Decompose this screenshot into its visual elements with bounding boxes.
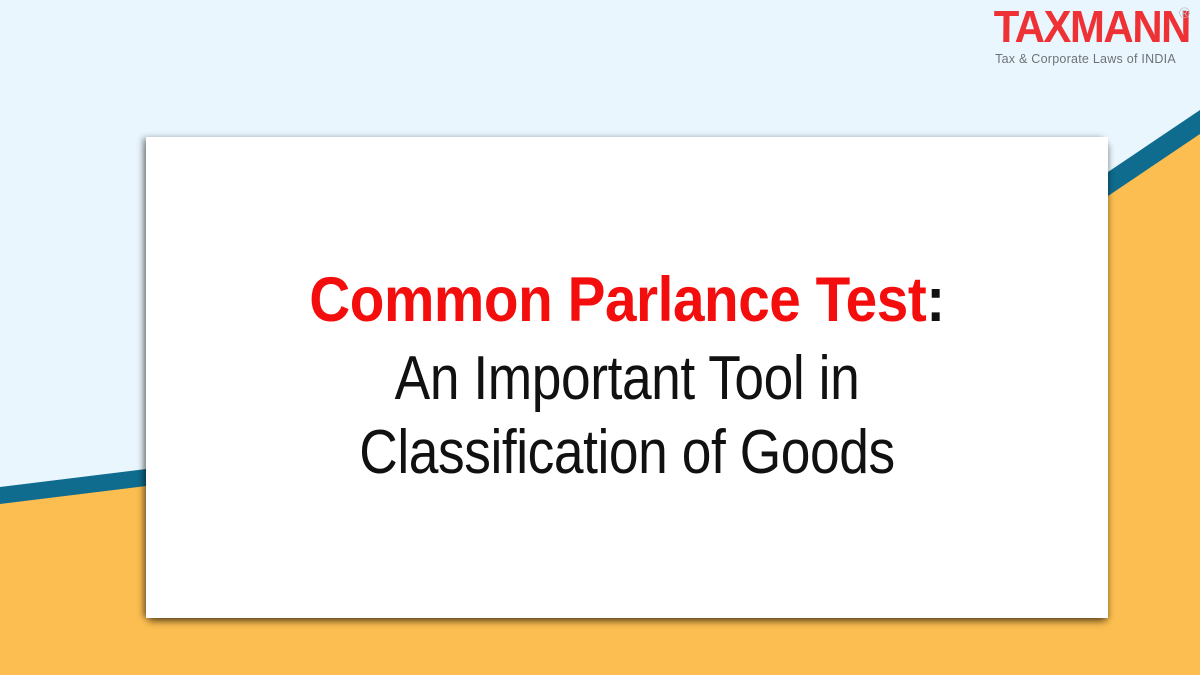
orange-panel-right bbox=[1108, 134, 1200, 675]
slide-title: Common Parlance Test: An Important Tool … bbox=[146, 264, 1108, 491]
registered-trademark-icon: ® bbox=[1179, 6, 1190, 21]
title-line-tertiary: Classification of Goods bbox=[234, 417, 1020, 489]
taxmann-wordmark: TAXMANN bbox=[957, 4, 1190, 49]
content-card: Common Parlance Test: An Important Tool … bbox=[146, 137, 1108, 618]
orange-band-bottom bbox=[0, 617, 1200, 675]
title-line-secondary: An Important Tool in bbox=[234, 343, 1020, 415]
taxmann-logo: TAXMANN ® Tax & Corporate Laws of INDIA bbox=[940, 4, 1190, 76]
title-colon: : bbox=[926, 265, 944, 335]
slide-canvas: TAXMANN ® Tax & Corporate Laws of INDIA … bbox=[0, 0, 1200, 675]
title-highlight-text: Common Parlance Test bbox=[309, 265, 926, 335]
teal-stripe-right bbox=[1108, 110, 1200, 202]
taxmann-tagline: Tax & Corporate Laws of INDIA bbox=[940, 53, 1176, 66]
title-line-primary: Common Parlance Test: bbox=[216, 264, 1039, 337]
